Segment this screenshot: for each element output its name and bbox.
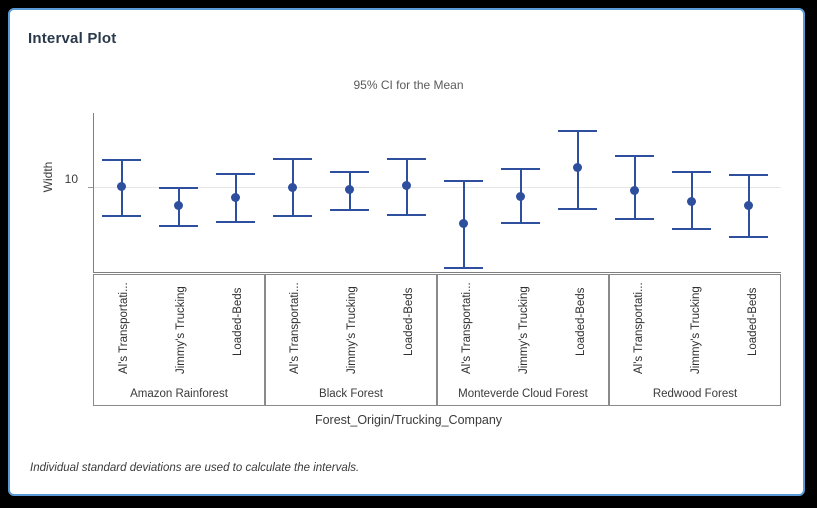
x-axis-series-label: Al's Transportati... <box>289 282 301 374</box>
interval-mean-marker <box>288 183 297 192</box>
y-axis-label: Width <box>41 137 55 217</box>
interval-mean-marker <box>231 193 240 202</box>
interval-cap-upper <box>444 180 483 182</box>
interval-cap-upper <box>729 174 768 176</box>
interval-mean-marker <box>402 181 411 190</box>
interval-mean-marker <box>744 201 753 210</box>
interval-cap-lower <box>216 221 255 223</box>
interval-cap-lower <box>558 208 597 210</box>
x-axis-line <box>93 272 781 273</box>
interval-cap-lower <box>501 222 540 224</box>
x-axis-series-label: Loaded-Beds <box>747 288 759 356</box>
interval-cap-lower <box>729 236 768 238</box>
interval-cap-lower <box>615 218 654 220</box>
chart-footnote: Individual standard deviations are used … <box>30 462 359 474</box>
interval-cap-lower <box>330 209 369 211</box>
interval-mean-marker <box>630 186 639 195</box>
x-axis-series-label: Loaded-Beds <box>403 288 415 356</box>
interval-cap-lower <box>672 228 711 230</box>
y-axis-line <box>93 113 94 273</box>
x-axis-series-label: Jimmy's Trucking <box>690 286 702 374</box>
x-axis-series-label: Loaded-Beds <box>575 288 587 356</box>
interval-mean-marker <box>573 163 582 172</box>
x-axis-series-label: Loaded-Beds <box>232 288 244 356</box>
x-axis-group-label: Amazon Rainforest <box>93 388 265 400</box>
x-axis-label: Forest_Origin/Trucking_Company <box>10 413 807 427</box>
interval-cap-lower <box>159 225 198 227</box>
x-axis-group-label: Monteverde Cloud Forest <box>437 388 609 400</box>
interval-cap-upper <box>501 168 540 170</box>
interval-cap-upper <box>672 171 711 173</box>
interval-cap-upper <box>558 130 597 132</box>
interval-cap-upper <box>159 187 198 189</box>
interval-cap-upper <box>330 171 369 173</box>
interval-cap-lower <box>444 267 483 269</box>
x-axis-group-label: Black Forest <box>265 388 437 400</box>
x-axis-series-label: Jimmy's Trucking <box>346 286 358 374</box>
y-axis-tick-mark <box>88 187 93 188</box>
interval-cap-lower <box>387 214 426 216</box>
interval-mean-marker <box>174 201 183 210</box>
x-axis-group-label: Redwood Forest <box>609 388 781 400</box>
chart-card: Interval Plot 95% CI for the Mean Width … <box>8 8 805 496</box>
interval-mean-marker <box>117 182 126 191</box>
interval-cap-upper <box>102 159 141 161</box>
x-axis-series-label: Al's Transportati... <box>118 282 130 374</box>
interval-cap-lower <box>273 215 312 217</box>
interval-cap-lower <box>102 215 141 217</box>
y-axis-tick-label: 10 <box>56 172 78 186</box>
interval-mean-marker <box>345 185 354 194</box>
x-axis-series-label: Al's Transportati... <box>633 282 645 374</box>
interval-cap-upper <box>216 173 255 175</box>
interval-plot-canvas: Width 10 <box>10 10 807 498</box>
x-axis-series-label: Jimmy's Trucking <box>518 286 530 374</box>
x-axis-series-label: Jimmy's Trucking <box>175 286 187 374</box>
interval-mean-marker <box>516 192 525 201</box>
interval-mean-marker <box>687 197 696 206</box>
interval-mean-marker <box>459 219 468 228</box>
interval-cap-upper <box>387 158 426 160</box>
interval-cap-upper <box>615 155 654 157</box>
interval-cap-upper <box>273 158 312 160</box>
x-axis-series-label: Al's Transportati... <box>461 282 473 374</box>
